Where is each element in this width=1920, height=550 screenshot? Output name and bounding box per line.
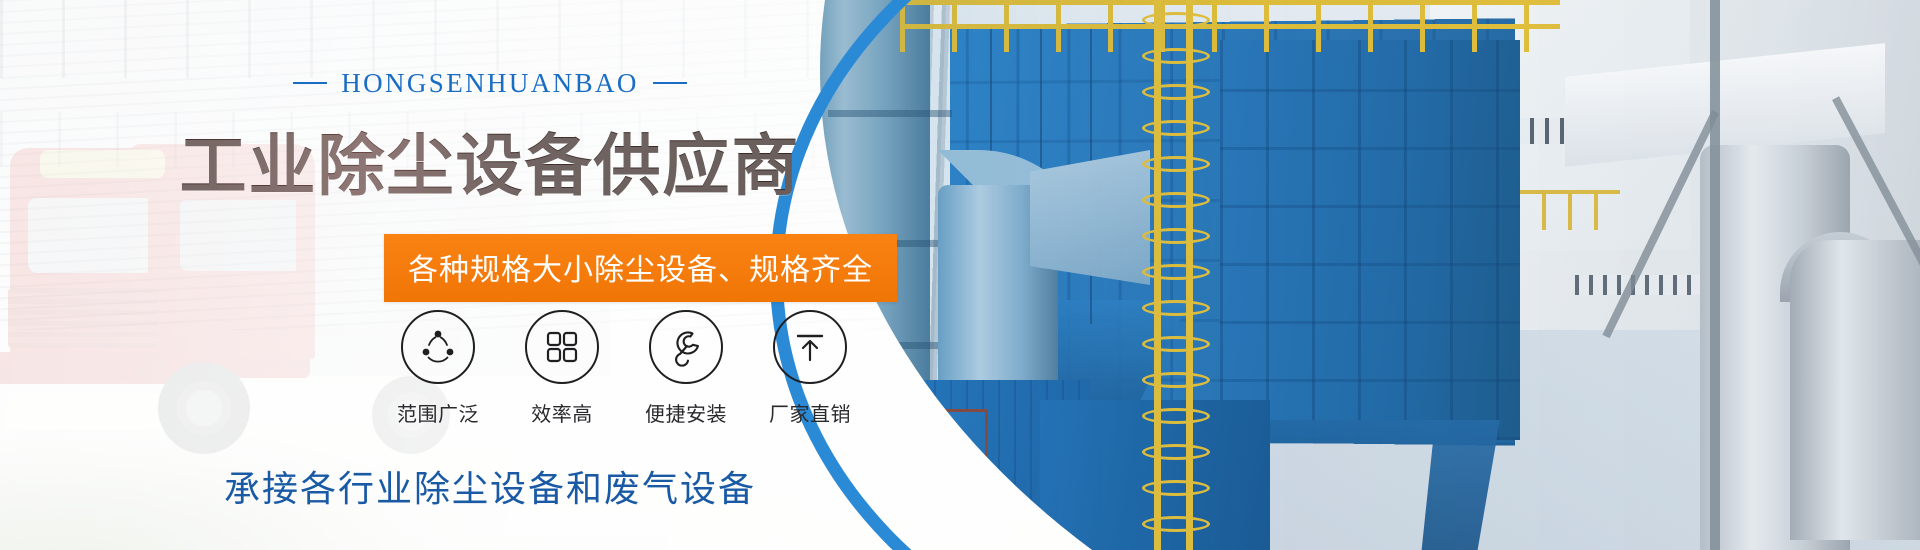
feature-label: 效率高 (508, 398, 616, 427)
feature-list: 范围广泛 效率高 (384, 310, 864, 427)
grid-squares-icon (543, 328, 581, 366)
network-nodes-icon (417, 326, 459, 368)
kicker-label: HONGSENHUANBAO (341, 68, 639, 98)
feature-icon-circle (773, 310, 847, 384)
feature-icon-circle (649, 310, 723, 384)
feature-label: 厂家直销 (756, 398, 864, 427)
banner-content: HONGSENHUANBAO 工业除尘设备供应商 各种规格大小除尘设备、规格齐全… (0, 0, 980, 550)
arrow-up-bar-icon (790, 327, 830, 367)
kicker-dash-right (653, 82, 687, 84)
feature-label: 便捷安装 (632, 398, 740, 427)
banner-headline: 工业除尘设备供应商 (0, 112, 980, 209)
feature-item-installation[interactable]: 便捷安装 (632, 310, 740, 427)
feature-icon-circle (401, 310, 475, 384)
feature-item-scope[interactable]: 范围广泛 (384, 310, 492, 427)
feature-label: 范围广泛 (384, 398, 492, 427)
banner-tagline: 承接各行业除尘设备和废气设备 (0, 460, 980, 512)
feature-item-efficiency[interactable]: 效率高 (508, 310, 616, 427)
kicker-dash-left (293, 82, 327, 84)
hero-banner: HONGSENHUANBAO 工业除尘设备供应商 各种规格大小除尘设备、规格齐全… (0, 0, 1920, 550)
brand-kicker: HONGSENHUANBAO (0, 68, 980, 99)
feature-icon-circle (525, 310, 599, 384)
feature-item-factory-direct[interactable]: 厂家直销 (756, 310, 864, 427)
wrench-icon (665, 326, 707, 368)
orange-ribbon-subtitle: 各种规格大小除尘设备、规格齐全 (384, 234, 897, 302)
